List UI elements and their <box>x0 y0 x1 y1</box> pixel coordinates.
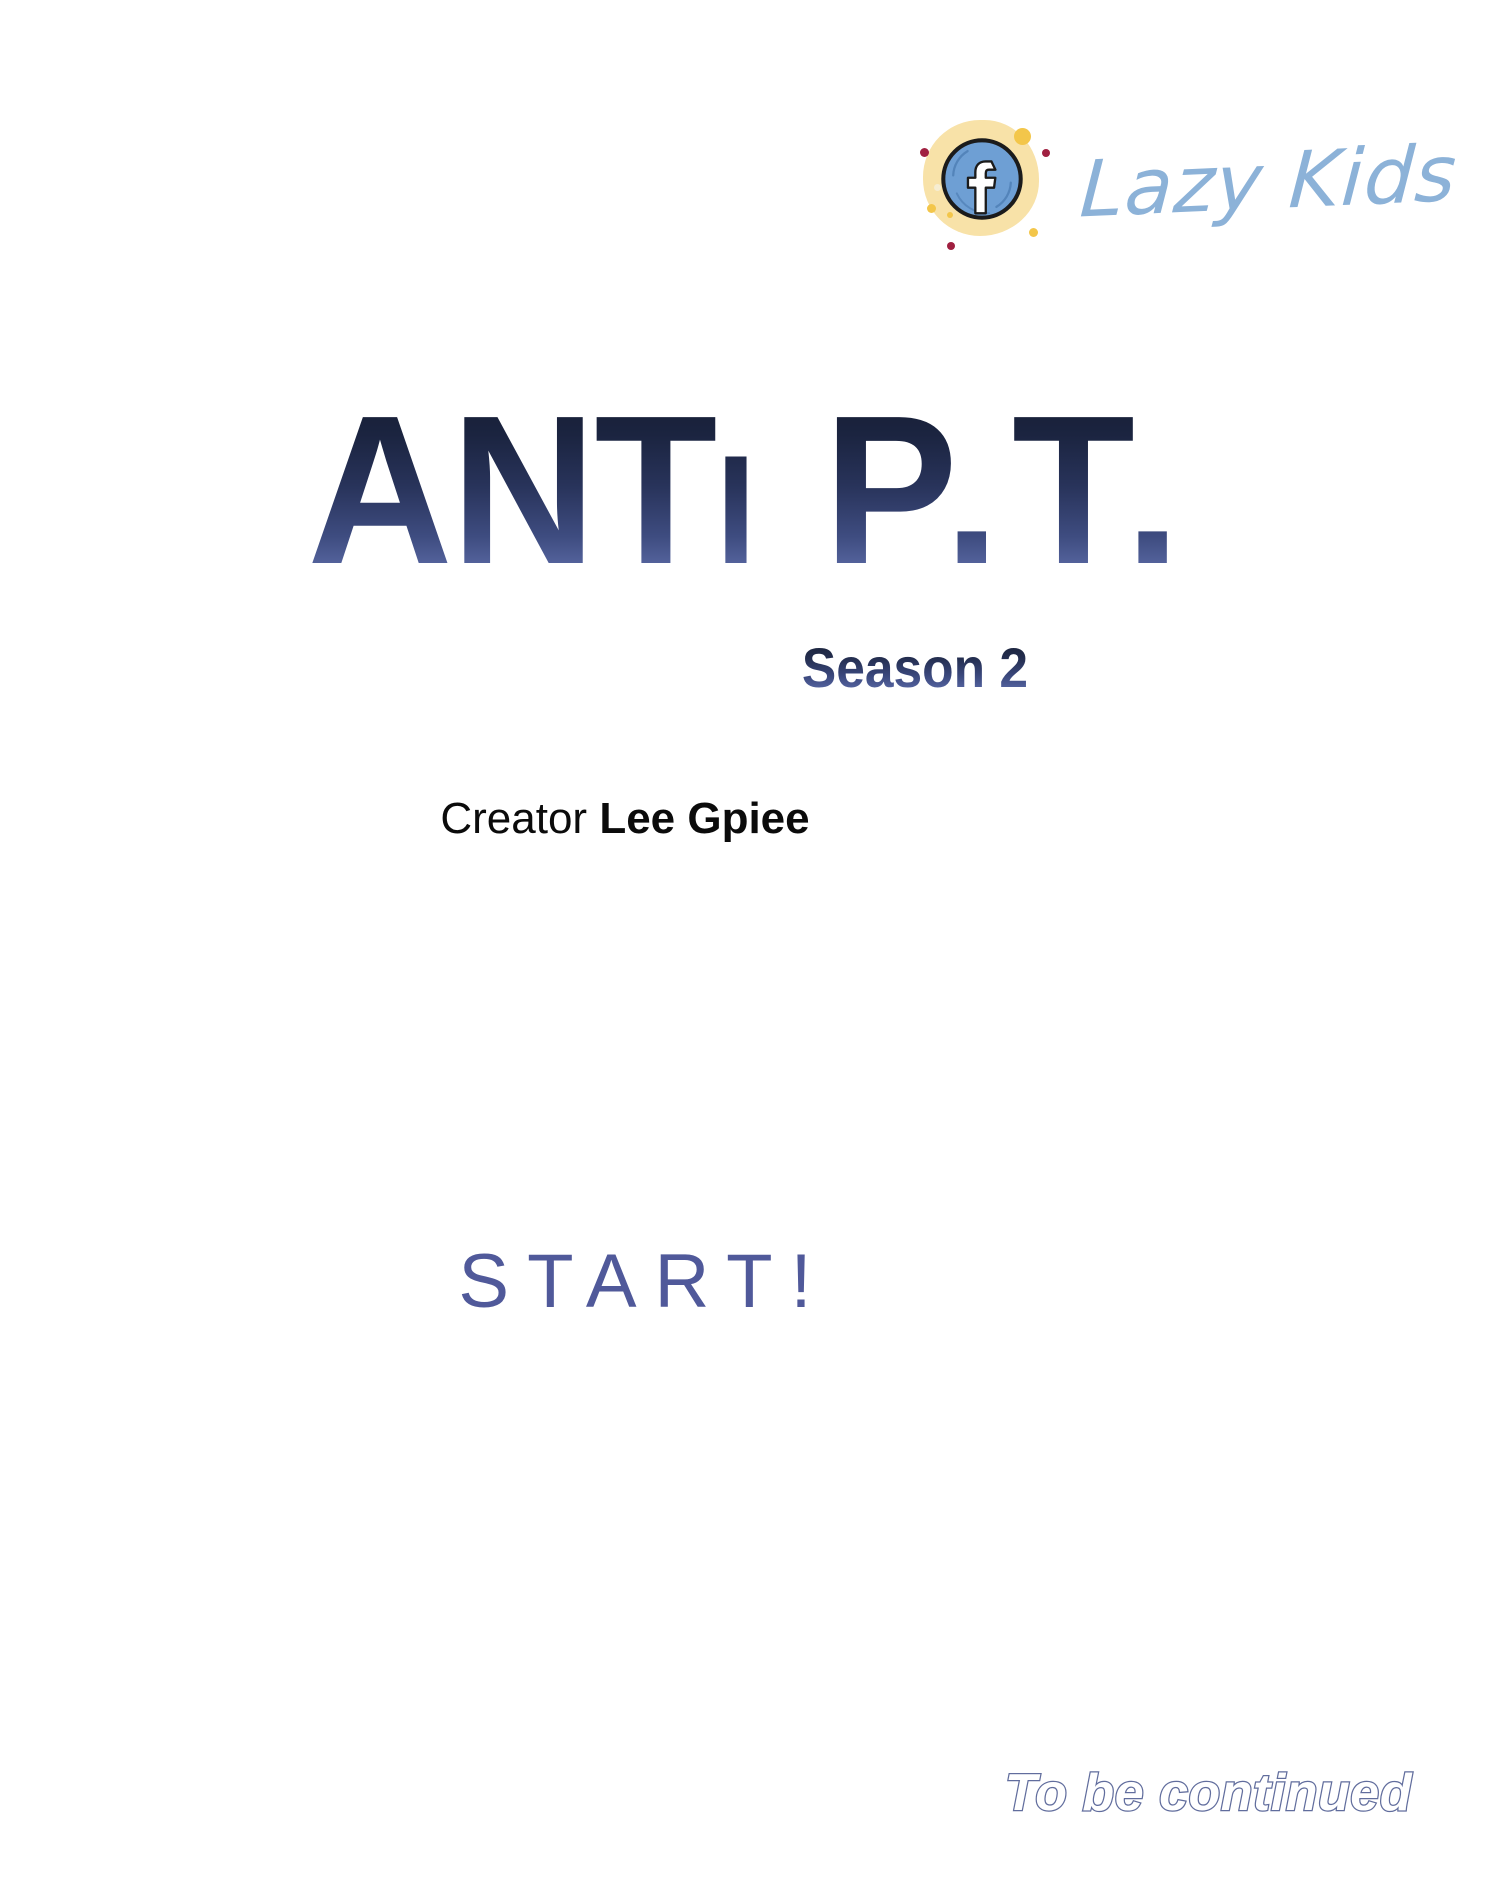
logo-speck-maroon-1 <box>920 148 929 157</box>
facebook-glyph <box>937 134 1027 224</box>
title-part-3: P.T. <box>755 371 1192 608</box>
title-block: ANTI P.T. <box>0 392 1500 587</box>
page-title: ANTI P.T. <box>307 392 1192 587</box>
logo-speck-yellow-3 <box>1029 228 1038 237</box>
creator-line: Creator Lee Gpiee <box>0 795 1500 843</box>
title-part-2: I <box>715 423 755 596</box>
to-be-continued-label: To be continued <box>1005 1767 1412 1819</box>
logo-speck-yellow-2 <box>927 204 936 213</box>
title-part-1: ANT <box>307 371 715 608</box>
logo-speck-maroon-3 <box>947 242 955 250</box>
start-button[interactable]: START! <box>0 1240 1500 1324</box>
brand-logo[interactable]: Lazy Kids <box>911 108 1470 256</box>
creator-prefix: Creator <box>440 794 587 843</box>
webtoon-title-page: Lazy Kids ANTI P.T. Season 2 Creator Lee… <box>0 0 1500 1887</box>
creator-name: Lee Gpiee <box>599 794 809 843</box>
season-label: Season 2 <box>802 640 1028 696</box>
facebook-icon[interactable] <box>911 108 1059 256</box>
season-row: Season 2 <box>0 640 1500 696</box>
brand-name: Lazy Kids <box>1078 135 1473 230</box>
logo-speck-maroon-2 <box>1042 149 1050 157</box>
